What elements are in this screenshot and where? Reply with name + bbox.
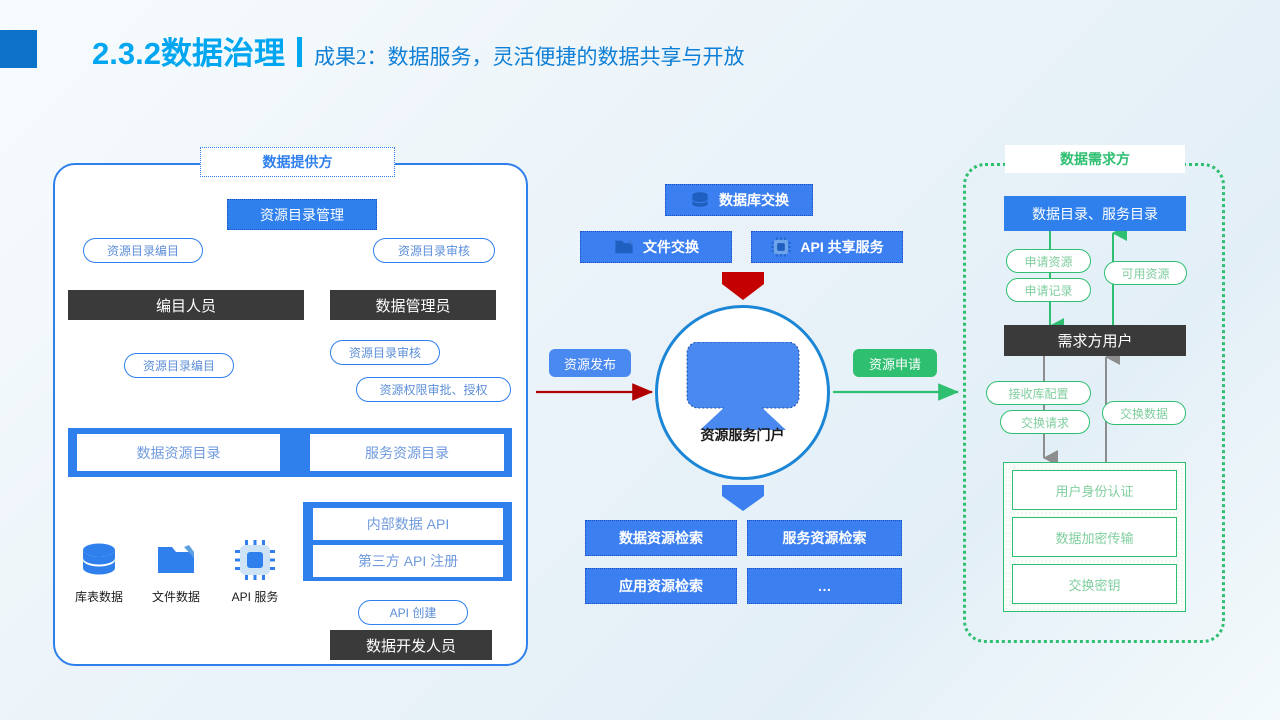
source-item-database: 库表数据: [68, 537, 130, 609]
provider-panel-title: 数据提供方: [200, 147, 395, 177]
diagram-canvas: 2.3.2数据治理 成果2：数据服务，灵活便捷的数据共享与开放: [0, 0, 1280, 720]
search-box-service-resource[interactable]: 服务资源检索: [747, 520, 902, 556]
database-icon: [76, 537, 122, 583]
pill-catalog-edit-top: 资源目录编目: [83, 238, 203, 263]
pill-apply-record: 申请记录: [1006, 278, 1091, 302]
source-item-folder: 文件数据: [145, 537, 207, 609]
header-accent-square: [0, 30, 37, 68]
chip-icon: [770, 236, 792, 258]
page-title: 2.3.2数据治理 成果2：数据服务，灵活便捷的数据共享与开放: [92, 28, 744, 73]
folder-icon: [153, 537, 199, 583]
chip-icon: [232, 537, 278, 583]
role-developer-box[interactable]: 数据开发人员: [330, 630, 492, 660]
exchange-label-file: 文件交换: [643, 237, 699, 257]
header-subtitle: 成果2：数据服务，灵活便捷的数据共享与开放: [314, 41, 745, 71]
tag-resource-publish[interactable]: 资源发布: [549, 349, 631, 377]
pill-exchange-data: 交换数据: [1102, 401, 1186, 425]
internal-data-api-box[interactable]: 内部数据 API: [313, 508, 503, 540]
folder-icon: [613, 236, 635, 258]
header-main-title: 2.3.2数据治理: [92, 28, 285, 73]
role-cataloger-box[interactable]: 编目人员: [68, 290, 304, 320]
service-resource-catalog-box[interactable]: 服务资源目录: [310, 434, 504, 471]
pill-api-create: API 创建: [358, 600, 468, 625]
pill-apply-resource: 申请资源: [1006, 249, 1091, 273]
data-source-icon-row: 库表数据 文件数据 API 服务: [68, 537, 288, 609]
consumer-catalogs-box[interactable]: 数据目录、服务目录: [1004, 196, 1186, 231]
resource-catalog-management-box[interactable]: 资源目录管理: [227, 199, 377, 230]
pill-catalog-edit-mid: 资源目录编目: [124, 353, 234, 378]
pill-receiver-db-config: 接收库配置: [986, 381, 1091, 405]
resource-portal-label: 资源服务门户: [655, 425, 830, 445]
exchange-label-database: 数据库交换: [719, 190, 789, 210]
role-data-admin-box[interactable]: 数据管理员: [330, 290, 496, 320]
exchange-button-database[interactable]: 数据库交换: [665, 184, 813, 216]
security-item-key[interactable]: 交换密钥: [1012, 564, 1177, 604]
pill-catalog-audit-top: 资源目录审核: [373, 238, 495, 263]
exchange-button-file[interactable]: 文件交换: [580, 231, 732, 263]
data-resource-catalog-box[interactable]: 数据资源目录: [77, 434, 280, 471]
pill-catalog-audit-mid: 资源目录审核: [330, 340, 440, 365]
blue-down-chevron-icon: [722, 485, 764, 516]
exchange-label-api: API 共享服务: [800, 237, 883, 257]
search-box-data-resource[interactable]: 数据资源检索: [585, 520, 737, 556]
source-item-api: API 服务: [222, 537, 288, 609]
pill-resource-authorization: 资源权限审批、授权: [356, 377, 511, 402]
security-group: 用户身份认证 数据加密传输 交换密钥: [1003, 462, 1186, 612]
security-item-encryption[interactable]: 数据加密传输: [1012, 517, 1177, 557]
pill-exchange-request: 交换请求: [1000, 410, 1090, 434]
source-label-api: API 服务: [222, 588, 288, 605]
pill-available-resource: 可用资源: [1104, 261, 1187, 285]
header-divider: [297, 37, 302, 67]
monitor-icon: [682, 342, 804, 435]
tag-resource-apply[interactable]: 资源申请: [853, 349, 937, 377]
consumer-user-box[interactable]: 需求方用户: [1004, 325, 1186, 356]
exchange-button-api[interactable]: API 共享服务: [751, 231, 903, 263]
page-header: 2.3.2数据治理 成果2：数据服务，灵活便捷的数据共享与开放: [0, 0, 1280, 110]
search-box-app-resource[interactable]: 应用资源检索: [585, 568, 737, 604]
thirdparty-api-register-box[interactable]: 第三方 API 注册: [313, 545, 503, 577]
source-label-folder: 文件数据: [145, 588, 207, 605]
search-box-more[interactable]: …: [747, 568, 902, 604]
red-down-chevron-icon: [722, 272, 764, 305]
security-item-identity[interactable]: 用户身份认证: [1012, 470, 1177, 510]
consumer-panel-title: 数据需求方: [1005, 145, 1185, 173]
source-label-database: 库表数据: [68, 588, 130, 605]
database-icon: [689, 189, 711, 211]
